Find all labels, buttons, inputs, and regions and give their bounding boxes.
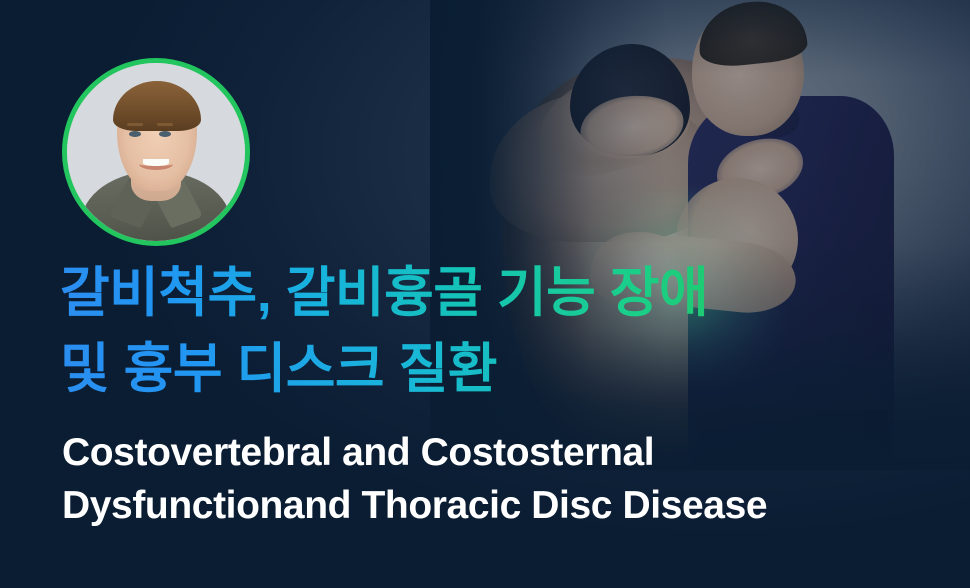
avatar-eye-right bbox=[159, 131, 171, 137]
english-subtitle-line-2: Dysfunctionand Thoracic Disc Disease bbox=[62, 479, 942, 532]
english-subtitle: Costovertebral and Costosternal Dysfunct… bbox=[62, 426, 942, 533]
avatar-eyebrow-left bbox=[127, 123, 143, 126]
korean-headline: 갈비척추, 갈비흉골 기능 장애 및 흉부 디스크 질환 bbox=[60, 256, 890, 407]
avatar-eye-left bbox=[129, 131, 141, 137]
english-subtitle-line-1: Costovertebral and Costosternal bbox=[62, 426, 942, 479]
korean-headline-line-2: 및 흉부 디스크 질환 bbox=[60, 332, 890, 408]
presenter-avatar bbox=[62, 58, 250, 246]
video-thumbnail: 갈비척추, 갈비흉골 기능 장애 및 흉부 디스크 질환 Costoverteb… bbox=[0, 0, 970, 588]
avatar-eyebrow-right bbox=[157, 123, 173, 126]
avatar-smile bbox=[139, 158, 173, 170]
korean-headline-line-1: 갈비척추, 갈비흉골 기능 장애 bbox=[60, 256, 890, 332]
